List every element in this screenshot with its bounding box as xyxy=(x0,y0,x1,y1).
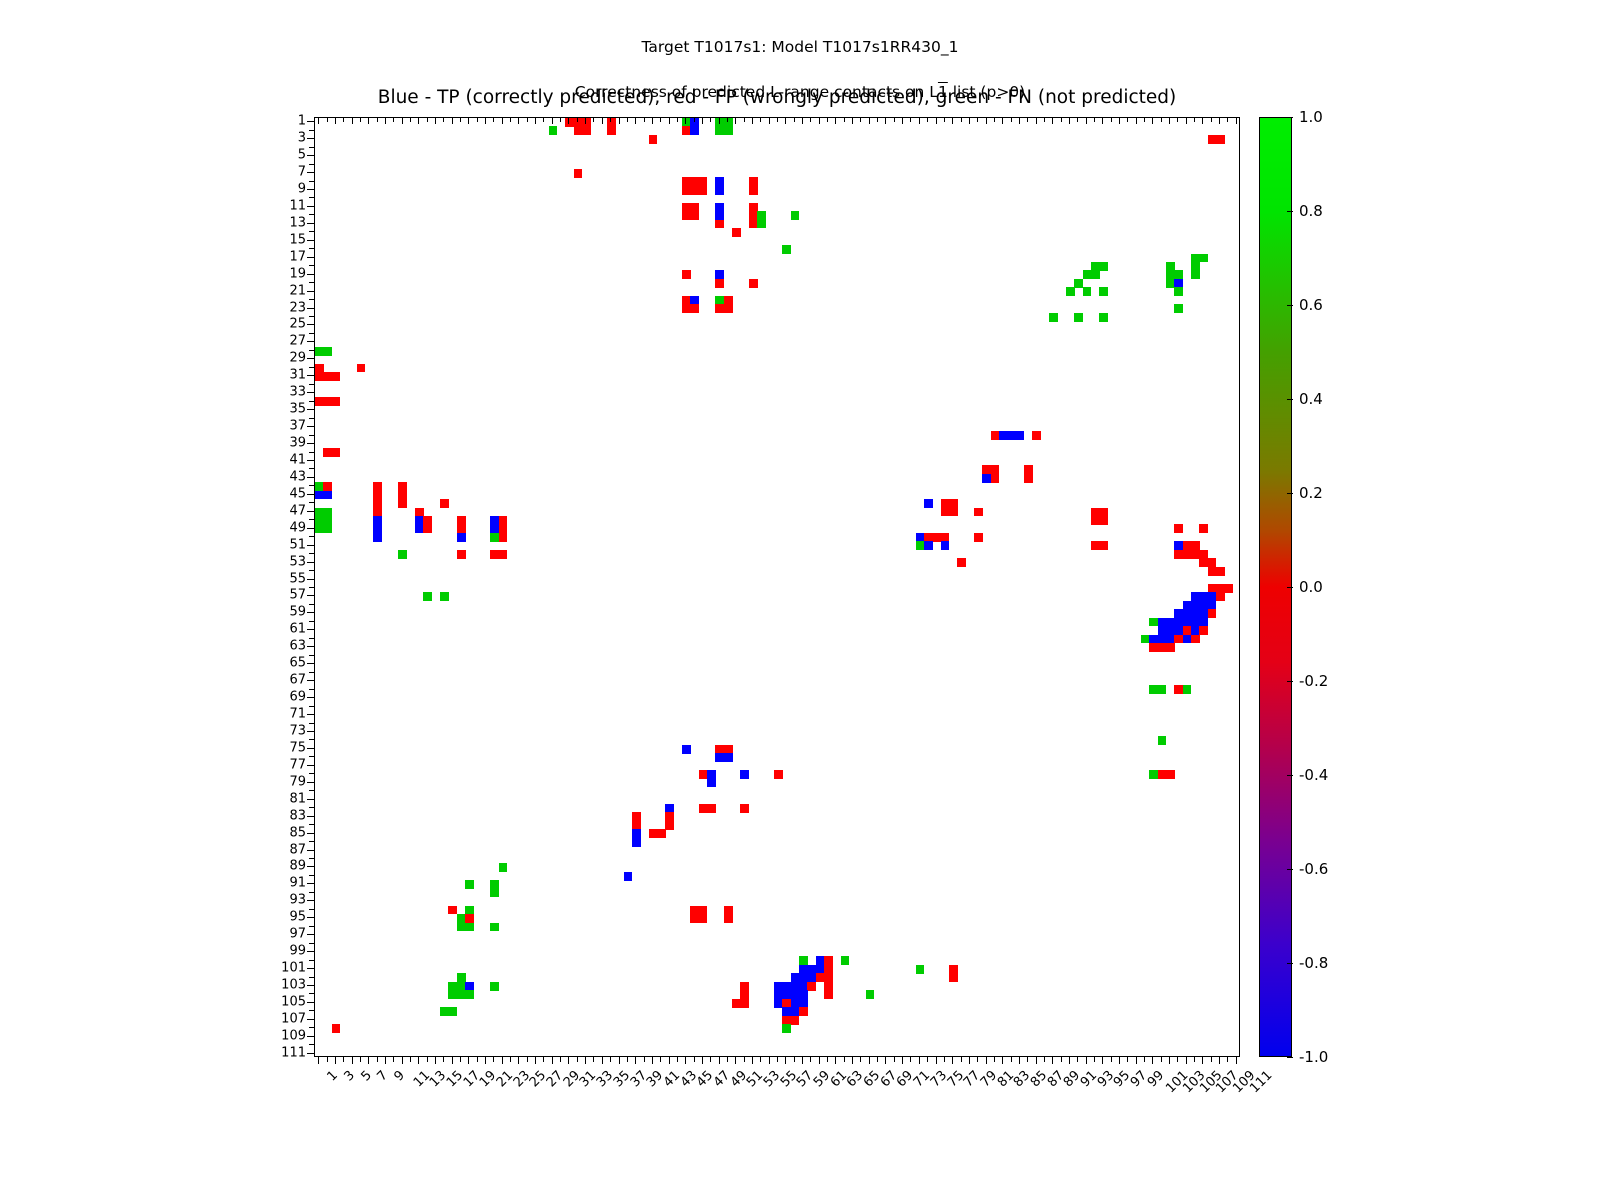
heatmap-cell xyxy=(632,838,641,847)
y-tick xyxy=(309,401,314,402)
x-tick-top xyxy=(885,117,886,124)
x-tick xyxy=(318,1057,319,1064)
heatmap-cell xyxy=(841,956,850,965)
y-tick-label: 17 xyxy=(262,249,306,264)
x-tick-top xyxy=(810,117,811,122)
x-tick-top xyxy=(944,117,945,122)
heatmap-cell xyxy=(924,499,933,508)
x-tick xyxy=(685,1057,686,1064)
heatmap-cell xyxy=(323,347,332,356)
y-tick xyxy=(309,824,314,825)
y-tick xyxy=(309,452,314,453)
x-tick xyxy=(585,1057,586,1064)
y-tick xyxy=(307,494,314,495)
y-tick xyxy=(307,680,314,681)
heatmap-cell xyxy=(1224,584,1233,593)
y-tick-label: 105 xyxy=(262,994,306,1009)
x-tick-top xyxy=(1236,117,1237,124)
x-tick-top xyxy=(502,117,503,124)
y-tick-label: 31 xyxy=(262,368,306,383)
y-tick-label: 15 xyxy=(262,232,306,247)
colorbar-tick xyxy=(1287,493,1293,494)
x-tick-top xyxy=(1127,117,1128,122)
y-tick xyxy=(307,1002,314,1003)
x-tick xyxy=(352,1057,353,1064)
x-tick-top xyxy=(1194,117,1195,122)
heatmap-cell xyxy=(423,592,432,601)
heatmap-cell xyxy=(690,304,699,313)
x-tick xyxy=(719,1057,720,1064)
y-tick-label: 57 xyxy=(262,588,306,603)
y-tick xyxy=(307,883,314,884)
x-tick xyxy=(510,1057,511,1062)
y-tick xyxy=(309,1010,314,1011)
colorbar-tick-label: -1.0 xyxy=(1299,1048,1328,1066)
y-tick xyxy=(309,892,314,893)
heatmap-cell xyxy=(649,135,658,144)
x-tick-label: 1 xyxy=(325,1068,341,1084)
x-tick-label: 99 xyxy=(1145,1068,1167,1090)
heatmap-cell xyxy=(949,973,958,982)
x-tick xyxy=(1011,1057,1012,1062)
y-tick xyxy=(309,807,314,808)
x-tick-top xyxy=(1086,117,1087,124)
x-tick-top xyxy=(610,117,611,122)
y-tick-label: 27 xyxy=(262,334,306,349)
x-tick-top xyxy=(994,117,995,122)
heatmap-cell xyxy=(1199,524,1208,533)
x-tick xyxy=(518,1057,519,1064)
x-tick xyxy=(568,1057,569,1064)
heatmap-cell xyxy=(791,1016,800,1025)
y-tick xyxy=(307,257,314,258)
y-tick xyxy=(309,418,314,419)
x-tick xyxy=(410,1057,411,1062)
x-tick-top xyxy=(343,117,344,122)
heatmap-cell xyxy=(1024,474,1033,483)
x-tick-top xyxy=(485,117,486,124)
y-tick xyxy=(307,579,314,580)
heatmap-cell xyxy=(941,541,950,550)
y-tick-label: 51 xyxy=(262,537,306,552)
y-tick xyxy=(307,968,314,969)
heatmap-cell xyxy=(440,499,449,508)
y-tick xyxy=(307,138,314,139)
heatmap-cell xyxy=(782,1024,791,1033)
x-tick-top xyxy=(977,117,978,122)
y-tick-label: 55 xyxy=(262,571,306,586)
x-tick xyxy=(1161,1057,1162,1062)
x-tick-top xyxy=(1186,117,1187,124)
y-tick-label: 89 xyxy=(262,859,306,874)
x-tick-top xyxy=(936,117,937,124)
y-tick xyxy=(309,790,314,791)
heatmap-cell xyxy=(724,126,733,135)
x-tick-top xyxy=(769,117,770,124)
y-tick-label: 93 xyxy=(262,893,306,908)
x-tick-top xyxy=(577,117,578,122)
y-tick xyxy=(309,536,314,537)
y-tick xyxy=(309,333,314,334)
y-tick-label: 11 xyxy=(262,198,306,213)
x-tick-top xyxy=(418,117,419,124)
y-tick xyxy=(309,384,314,385)
y-tick-label: 91 xyxy=(262,876,306,891)
colorbar-tick-label: 0.4 xyxy=(1299,390,1323,408)
x-tick-top xyxy=(593,117,594,122)
x-tick-top xyxy=(1119,117,1120,124)
heatmap-cell xyxy=(949,508,958,517)
y-tick xyxy=(309,977,314,978)
colorbar-tick-label: 0.0 xyxy=(1299,578,1323,596)
x-tick-top xyxy=(677,117,678,122)
x-tick-top xyxy=(1169,117,1170,124)
y-tick xyxy=(309,299,314,300)
y-tick xyxy=(307,155,314,156)
y-tick-label: 29 xyxy=(262,351,306,366)
x-tick-top xyxy=(844,117,845,122)
y-tick-label: 99 xyxy=(262,944,306,959)
heatmap-cell xyxy=(1174,287,1183,296)
y-tick xyxy=(309,993,314,994)
x-tick xyxy=(468,1057,469,1064)
y-tick-label: 83 xyxy=(262,808,306,823)
x-tick xyxy=(1044,1057,1045,1062)
x-tick xyxy=(961,1057,962,1062)
y-tick xyxy=(307,850,314,851)
x-tick-top xyxy=(1061,117,1062,122)
x-tick-top xyxy=(869,117,870,124)
heatmap-cell xyxy=(1099,541,1108,550)
heatmap-cell xyxy=(457,533,466,542)
x-tick-label: 9 xyxy=(391,1068,407,1084)
heatmap-cell xyxy=(574,169,583,178)
y-tick-label: 71 xyxy=(262,707,306,722)
x-tick-top xyxy=(1002,117,1003,124)
y-tick xyxy=(309,519,314,520)
y-tick xyxy=(307,917,314,918)
y-tick xyxy=(309,638,314,639)
heatmap-cell xyxy=(1191,270,1200,279)
heatmap-cell xyxy=(724,304,733,313)
y-tick-label: 103 xyxy=(262,978,306,993)
x-tick xyxy=(610,1057,611,1062)
x-tick xyxy=(777,1057,778,1062)
y-tick xyxy=(307,324,314,325)
y-tick xyxy=(307,477,314,478)
x-tick-top xyxy=(510,117,511,122)
y-tick-label: 67 xyxy=(262,673,306,688)
y-tick xyxy=(307,595,314,596)
y-tick-label: 39 xyxy=(262,436,306,451)
contact-map-heatmap[interactable] xyxy=(314,117,1240,1057)
heatmap-cell xyxy=(957,558,966,567)
x-tick-top xyxy=(427,117,428,122)
y-tick-label: 5 xyxy=(262,148,306,163)
x-tick xyxy=(1052,1057,1053,1064)
heatmap-cell xyxy=(690,126,699,135)
x-tick-top xyxy=(685,117,686,124)
x-tick-top xyxy=(335,117,336,124)
y-tick xyxy=(309,553,314,554)
x-tick-top xyxy=(894,117,895,122)
y-tick xyxy=(309,841,314,842)
x-tick-top xyxy=(327,117,328,122)
y-tick xyxy=(309,350,314,351)
x-tick-top xyxy=(1227,117,1228,122)
y-tick xyxy=(307,426,314,427)
y-tick-label: 9 xyxy=(262,181,306,196)
heatmap-cell xyxy=(1174,524,1183,533)
heatmap-cell xyxy=(499,550,508,559)
x-tick xyxy=(535,1057,536,1064)
heatmap-cell xyxy=(1099,262,1108,271)
heatmap-cell xyxy=(607,126,616,135)
y-tick xyxy=(309,655,314,656)
heatmap-cell xyxy=(1166,643,1175,652)
y-tick xyxy=(307,375,314,376)
x-tick-top xyxy=(877,117,878,122)
y-tick xyxy=(307,291,314,292)
x-tick xyxy=(393,1057,394,1062)
y-tick xyxy=(307,714,314,715)
heatmap-cell xyxy=(549,126,558,135)
x-tick-top xyxy=(318,117,319,124)
y-tick-label: 13 xyxy=(262,215,306,230)
x-tick xyxy=(902,1057,903,1064)
y-tick-label: 3 xyxy=(262,131,306,146)
x-tick-label: 3 xyxy=(341,1068,357,1084)
y-tick xyxy=(309,367,314,368)
y-tick xyxy=(307,697,314,698)
heatmap-cell xyxy=(1066,287,1075,296)
heatmap-cell xyxy=(1208,609,1217,618)
y-tick-label: 53 xyxy=(262,554,306,569)
x-tick xyxy=(435,1057,436,1064)
heatmap-cell xyxy=(724,753,733,762)
x-tick-top xyxy=(1044,117,1045,122)
y-tick xyxy=(309,756,314,757)
x-tick xyxy=(577,1057,578,1062)
x-tick xyxy=(869,1057,870,1064)
x-tick-top xyxy=(744,117,745,122)
y-tick xyxy=(307,189,314,190)
x-tick xyxy=(1036,1057,1037,1064)
x-tick xyxy=(1186,1057,1187,1064)
y-tick xyxy=(309,248,314,249)
x-tick-top xyxy=(377,117,378,122)
x-tick xyxy=(635,1057,636,1064)
y-tick-label: 35 xyxy=(262,402,306,417)
x-tick-top xyxy=(1136,117,1137,124)
x-tick-top xyxy=(669,117,670,124)
y-tick xyxy=(307,951,314,952)
y-tick xyxy=(307,528,314,529)
x-tick-top xyxy=(794,117,795,122)
y-tick-label: 75 xyxy=(262,740,306,755)
x-tick xyxy=(602,1057,603,1064)
y-tick xyxy=(307,274,314,275)
heatmap-cell xyxy=(657,829,666,838)
x-tick xyxy=(1136,1057,1137,1064)
x-tick-top xyxy=(1094,117,1095,122)
heatmap-cell xyxy=(357,364,366,373)
x-tick xyxy=(1002,1057,1003,1064)
heatmap-cell xyxy=(490,923,499,932)
x-tick-top xyxy=(602,117,603,124)
x-tick-top xyxy=(652,117,653,124)
heatmap-cell xyxy=(323,524,332,533)
x-tick-top xyxy=(552,117,553,124)
heatmap-cell xyxy=(490,982,499,991)
colorbar-tick xyxy=(1287,211,1293,212)
x-tick xyxy=(1086,1057,1087,1064)
x-tick xyxy=(810,1057,811,1062)
y-tick-label: 109 xyxy=(262,1028,306,1043)
heatmap-cell xyxy=(715,220,724,229)
x-tick xyxy=(627,1057,628,1062)
x-tick-top xyxy=(360,117,361,122)
x-tick xyxy=(1119,1057,1120,1064)
y-tick xyxy=(309,739,314,740)
x-tick-top xyxy=(827,117,828,122)
colorbar-tick-label: 0.2 xyxy=(1299,484,1323,502)
heatmap-cell xyxy=(1191,635,1200,644)
heatmap-cell xyxy=(924,541,933,550)
x-tick xyxy=(802,1057,803,1064)
figure-suptitle: Target T1017s1: Model T1017s1RR430_1 Cor… xyxy=(0,14,1600,126)
x-tick xyxy=(760,1057,761,1062)
x-tick-top xyxy=(961,117,962,122)
y-tick-label: 69 xyxy=(262,690,306,705)
x-tick xyxy=(677,1057,678,1062)
heatmap-cell xyxy=(682,745,691,754)
x-tick-top xyxy=(585,117,586,124)
x-tick xyxy=(1019,1057,1020,1064)
y-tick xyxy=(309,604,314,605)
y-tick xyxy=(309,723,314,724)
x-tick xyxy=(827,1057,828,1062)
heatmap-cell xyxy=(332,448,341,457)
colorbar-tick xyxy=(1287,963,1293,964)
x-tick xyxy=(969,1057,970,1064)
y-tick xyxy=(307,799,314,800)
x-tick-top xyxy=(1211,117,1212,122)
y-tick xyxy=(309,706,314,707)
heatmap-cell xyxy=(1183,685,1192,694)
x-tick xyxy=(710,1057,711,1062)
x-tick xyxy=(885,1057,886,1064)
y-tick xyxy=(309,181,314,182)
heatmap-cell xyxy=(398,550,407,559)
y-tick xyxy=(307,816,314,817)
x-tick-top xyxy=(910,117,911,122)
heatmap-cell xyxy=(1091,270,1100,279)
x-tick xyxy=(343,1057,344,1062)
heatmap-cell xyxy=(332,1024,341,1033)
x-tick-top xyxy=(543,117,544,122)
colorbar-tick xyxy=(1287,775,1293,776)
x-tick xyxy=(1227,1057,1228,1062)
y-tick-label: 111 xyxy=(262,1045,306,1060)
x-tick xyxy=(936,1057,937,1064)
x-tick xyxy=(1061,1057,1062,1062)
x-tick xyxy=(1111,1057,1112,1062)
x-tick xyxy=(485,1057,486,1064)
x-tick-top xyxy=(986,117,987,124)
y-tick xyxy=(307,206,314,207)
x-tick xyxy=(652,1057,653,1064)
x-tick xyxy=(1169,1057,1170,1064)
x-tick xyxy=(986,1057,987,1064)
y-tick xyxy=(307,443,314,444)
y-tick xyxy=(307,612,314,613)
colorbar-tick xyxy=(1287,587,1293,588)
heatmap-cell xyxy=(1099,287,1108,296)
x-tick-top xyxy=(619,117,620,124)
x-tick-top xyxy=(1202,117,1203,124)
x-tick xyxy=(1127,1057,1128,1062)
x-tick xyxy=(452,1057,453,1064)
heatmap-cell xyxy=(665,821,674,830)
heatmap-cell xyxy=(774,770,783,779)
y-tick xyxy=(307,1053,314,1054)
x-tick xyxy=(952,1057,953,1064)
y-tick-label: 77 xyxy=(262,757,306,772)
heatmap-cell xyxy=(740,804,749,813)
y-tick xyxy=(307,172,314,173)
y-tick-label: 107 xyxy=(262,1011,306,1026)
x-tick-top xyxy=(760,117,761,122)
y-tick-label: 95 xyxy=(262,910,306,925)
x-tick-top xyxy=(702,117,703,124)
y-tick xyxy=(307,748,314,749)
x-tick-label: 5 xyxy=(358,1068,374,1084)
y-tick xyxy=(309,485,314,486)
y-tick-label: 7 xyxy=(262,165,306,180)
y-tick-label: 73 xyxy=(262,723,306,738)
figure-root: Target T1017s1: Model T1017s1RR430_1 Cor… xyxy=(0,0,1600,1200)
x-tick xyxy=(418,1057,419,1064)
x-tick-top xyxy=(710,117,711,122)
x-tick xyxy=(552,1057,553,1064)
x-tick xyxy=(360,1057,361,1062)
x-tick-top xyxy=(527,117,528,122)
heatmap-cell xyxy=(1158,685,1167,694)
x-tick xyxy=(560,1057,561,1062)
x-tick-top xyxy=(518,117,519,124)
x-tick xyxy=(377,1057,378,1062)
y-tick-label: 101 xyxy=(262,961,306,976)
x-tick xyxy=(1094,1057,1095,1062)
heatmap-cell xyxy=(799,1007,808,1016)
x-tick xyxy=(385,1057,386,1064)
heatmap-cell-layer xyxy=(315,118,1239,1056)
y-tick-label: 63 xyxy=(262,639,306,654)
x-tick-top xyxy=(785,117,786,124)
x-tick-top xyxy=(1019,117,1020,124)
heatmap-cell xyxy=(916,965,925,974)
y-tick xyxy=(307,562,314,563)
y-tick xyxy=(307,985,314,986)
y-tick-label: 49 xyxy=(262,520,306,535)
heatmap-cell xyxy=(423,524,432,533)
y-tick-label: 97 xyxy=(262,927,306,942)
y-tick xyxy=(309,943,314,944)
x-tick-top xyxy=(1102,117,1103,124)
x-tick xyxy=(702,1057,703,1064)
x-tick xyxy=(1202,1057,1203,1064)
